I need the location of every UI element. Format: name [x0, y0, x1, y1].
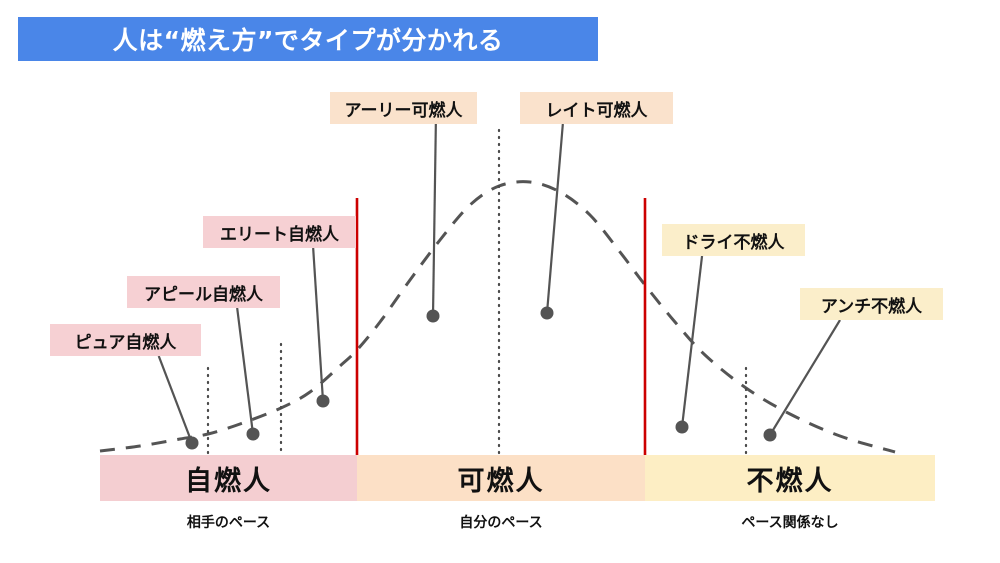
- leader-line-late-kanenjin: [547, 124, 563, 313]
- leader-line-pure-jinenjin: [159, 356, 192, 443]
- callout-label: ドライ不燃人: [683, 228, 785, 253]
- callout-label: レイト可燃人: [546, 96, 648, 121]
- callout-label: アーリー可燃人: [345, 96, 463, 121]
- callout-early-kanenjin: アーリー可燃人: [330, 92, 477, 124]
- infographic-canvas: 人は“燃え方”でタイプが分かれる ピュア自燃人アピール自燃人エリート自燃人アーリ…: [0, 0, 1000, 563]
- leader-line-anti-funenjin: [770, 320, 840, 435]
- callout-label: ピュア自燃人: [75, 328, 177, 353]
- band-caption-kanenjin: 自分のペース: [357, 512, 645, 532]
- callout-anti-funenjin: アンチ不燃人: [800, 288, 943, 320]
- callout-label: エリート自燃人: [220, 220, 339, 245]
- leader-line-early-kanenjin: [433, 124, 436, 316]
- band-caption-funenjin: ペース関係なし: [645, 512, 935, 532]
- band-segment-label: 自燃人: [185, 459, 272, 498]
- band-segment-jinenjin: 自燃人: [100, 455, 357, 501]
- data-dot-dry-funenjin: [676, 421, 689, 434]
- data-dot-late-kanenjin: [541, 307, 554, 320]
- callout-pure-jinenjin: ピュア自燃人: [50, 324, 201, 356]
- data-dot-elite-jinenjin: [317, 395, 330, 408]
- band-caption-jinenjin: 相手のペース: [100, 512, 357, 532]
- data-dot-appeal-jinenjin: [247, 428, 260, 441]
- band-segment-label: 不燃人: [747, 459, 834, 498]
- divider-lines: [357, 198, 645, 455]
- data-dot-early-kanenjin: [427, 310, 440, 323]
- data-dot-anti-funenjin: [764, 429, 777, 442]
- leader-line-dry-funenjin: [682, 256, 702, 427]
- leader-line-appeal-jinenjin: [237, 308, 253, 434]
- callout-label: アンチ不燃人: [821, 292, 922, 317]
- callout-appeal-jinenjin: アピール自燃人: [127, 276, 280, 308]
- callout-label: アピール自燃人: [144, 280, 263, 305]
- callout-elite-jinenjin: エリート自燃人: [203, 216, 356, 248]
- band-segment-label: 可燃人: [458, 459, 545, 498]
- callout-late-kanenjin: レイト可燃人: [520, 92, 673, 124]
- band-segment-funenjin: 不燃人: [645, 455, 935, 501]
- band-segment-kanenjin: 可燃人: [357, 455, 645, 501]
- leader-line-elite-jinenjin: [313, 248, 323, 401]
- data-dot-pure-jinenjin: [186, 437, 199, 450]
- callout-dry-funenjin: ドライ不燃人: [662, 224, 805, 256]
